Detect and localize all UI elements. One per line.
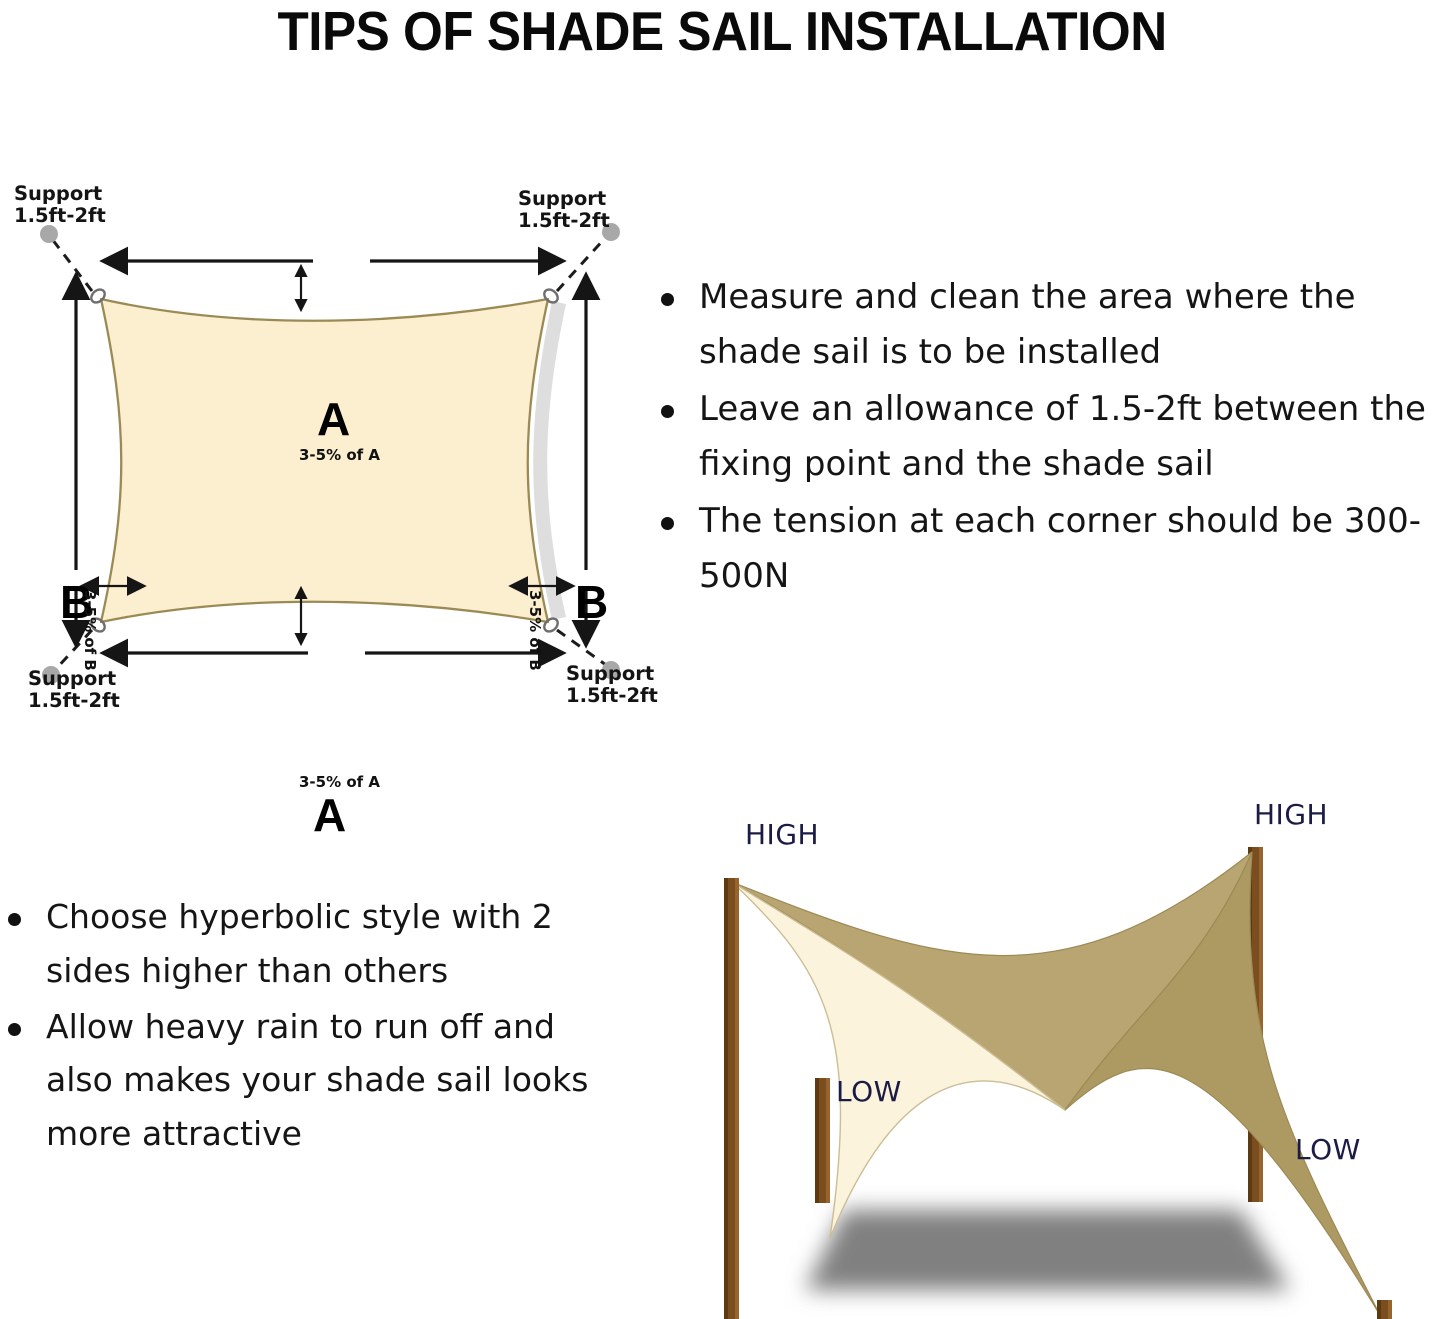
label-high-right: HIGH xyxy=(1254,798,1328,831)
support-label-line2: 1.5ft-2ft xyxy=(518,210,610,232)
support-label-top-left: Support 1.5ft-2ft xyxy=(14,183,106,227)
post-low-right xyxy=(1377,1300,1392,1319)
tips-list: Measure and clean the area where the sha… xyxy=(645,270,1445,604)
support-label-bottom-right: Support 1.5ft-2ft xyxy=(566,663,658,707)
label-high-left: HIGH xyxy=(745,818,819,851)
list-item: The tension at each corner should be 300… xyxy=(645,494,1445,604)
support-label-line1: Support xyxy=(566,663,658,685)
dimension-label-b-right: B xyxy=(575,579,608,625)
rectangular-shade-sail-diagram: Support 1.5ft-2ft Support 1.5ft-2ft Supp… xyxy=(0,165,660,730)
curvature-label-b-right: 3-5% of B xyxy=(527,590,542,671)
list-item: Allow heavy rain to run off and also mak… xyxy=(0,1000,620,1161)
page-title: TIPS OF SHADE SAIL INSTALLATION xyxy=(278,4,1167,59)
installation-tips-list-right: Measure and clean the area where the sha… xyxy=(645,270,1445,606)
ground-shadow xyxy=(805,1210,1290,1290)
support-label-line1: Support xyxy=(518,188,610,210)
installation-tips-list-left: Choose hyperbolic style with 2 sides hig… xyxy=(0,890,620,1163)
dimension-label-a-bottom: A xyxy=(313,792,346,838)
dimension-label-a-top: A xyxy=(317,396,350,442)
support-label-line1: Support xyxy=(14,183,106,205)
support-label-line2: 1.5ft-2ft xyxy=(28,690,120,712)
label-low-right: LOW xyxy=(1295,1133,1361,1166)
support-label-line2: 1.5ft-2ft xyxy=(14,205,106,227)
post-low-left xyxy=(815,1078,830,1203)
list-item: Measure and clean the area where the sha… xyxy=(645,270,1445,380)
curvature-label-a-top: 3-5% of A xyxy=(299,448,380,463)
support-label-line2: 1.5ft-2ft xyxy=(566,685,658,707)
support-label-line1: Support xyxy=(28,668,120,690)
title-bar: TIPS OF SHADE SAIL INSTALLATION xyxy=(0,0,1445,62)
list-item: Choose hyperbolic style with 2 sides hig… xyxy=(0,890,620,998)
post-high-left xyxy=(724,878,739,1319)
hyperbolic-shade-sail-illustration: HIGH HIGH LOW LOW xyxy=(640,790,1445,1319)
list-item: Leave an allowance of 1.5-2ft between th… xyxy=(645,382,1445,492)
support-label-top-right: Support 1.5ft-2ft xyxy=(518,188,610,232)
sail-illustration-graphic xyxy=(640,790,1445,1319)
curvature-label-b-left: 3-5% of B xyxy=(82,590,97,671)
label-low-left: LOW xyxy=(836,1075,902,1108)
curvature-label-a-bottom: 3-5% of A xyxy=(299,775,380,790)
support-label-bottom-left: Support 1.5ft-2ft xyxy=(28,668,120,712)
tips-list: Choose hyperbolic style with 2 sides hig… xyxy=(0,890,620,1161)
